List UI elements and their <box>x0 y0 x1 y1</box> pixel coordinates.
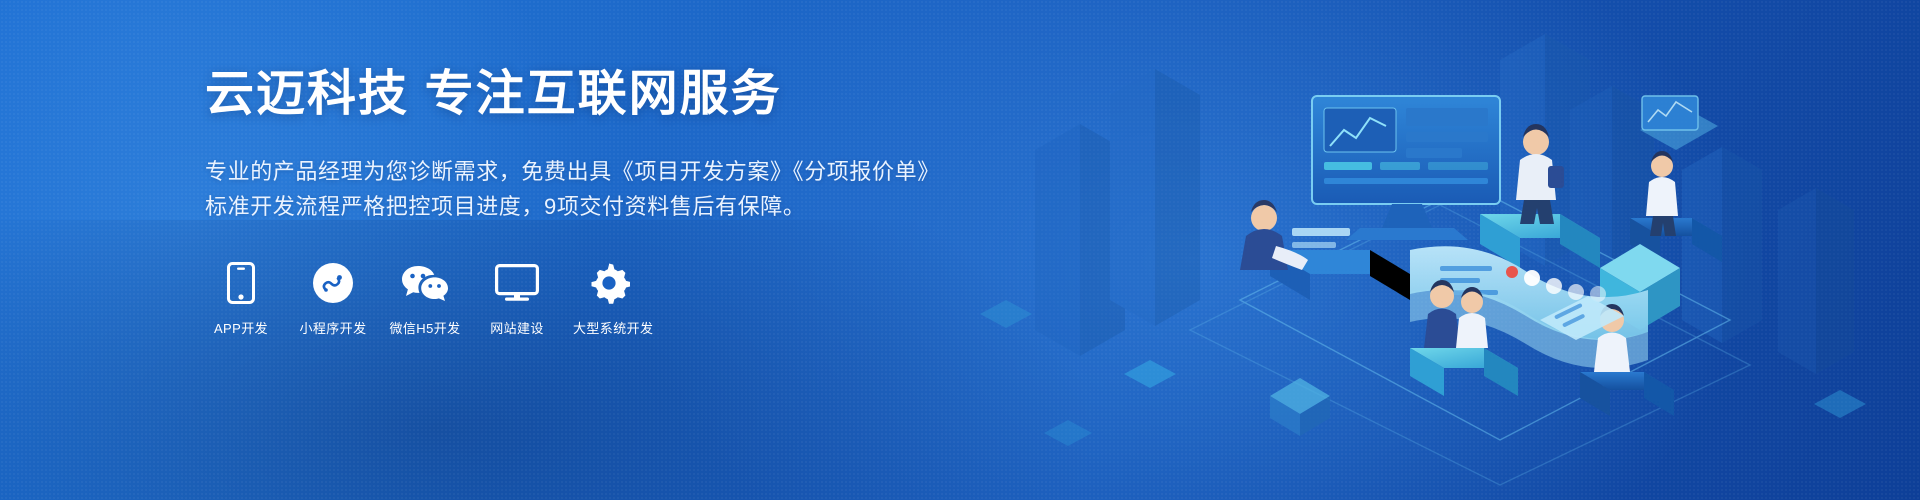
service-label-app: APP开发 <box>205 318 277 337</box>
mobile-phone-icon <box>205 261 277 305</box>
wechat-icon <box>389 261 461 305</box>
promo-banner: 云迈科技 专注互联网服务 专业的产品经理为您诊断需求，免费出具《项目开发方案》《… <box>0 0 1920 500</box>
service-label-wechat: 微信H5开发 <box>389 318 461 337</box>
monitor-icon <box>481 261 553 305</box>
subtitle-line-2: 标准开发流程严格把控项目进度，9项交付资料售后有保障。 <box>205 189 965 225</box>
page-title: 云迈科技 专注互联网服务 <box>205 66 965 124</box>
banner-content: 云迈科技 专注互联网服务 专业的产品经理为您诊断需求，免费出具《项目开发方案》《… <box>205 66 965 337</box>
mini-program-icon <box>297 261 369 305</box>
service-item-wechat[interactable]: 微信H5开发 <box>389 261 461 337</box>
service-label-system: 大型系统开发 <box>573 318 645 337</box>
service-item-app[interactable]: APP开发 <box>205 261 277 337</box>
subtitle-line-1: 专业的产品经理为您诊断需求，免费出具《项目开发方案》《分项报价单》 <box>205 154 965 190</box>
gear-icon <box>573 261 645 305</box>
service-label-miniprogram: 小程序开发 <box>297 318 369 337</box>
service-item-website[interactable]: 网站建设 <box>481 261 553 337</box>
service-list: APP开发 小程序开发 <box>205 261 965 337</box>
service-item-system[interactable]: 大型系统开发 <box>573 261 645 337</box>
service-item-miniprogram[interactable]: 小程序开发 <box>297 261 369 337</box>
isometric-tech-team-illustration <box>940 0 1920 500</box>
service-label-website: 网站建设 <box>481 318 553 337</box>
